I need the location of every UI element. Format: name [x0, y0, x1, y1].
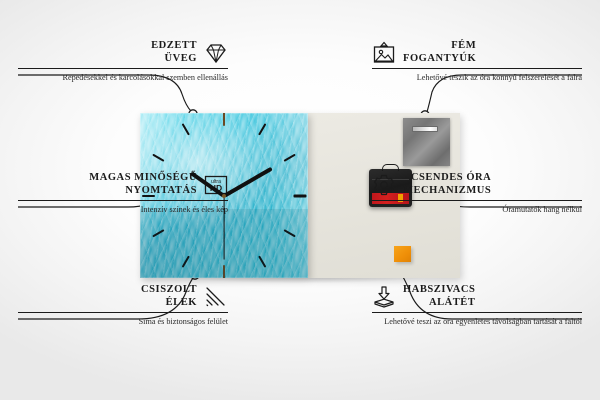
callout-title: FÉM FOGANTYÚK	[403, 40, 476, 65]
gear-icon	[372, 173, 396, 197]
callout-header: CSISZOLT ÉLEK	[18, 284, 228, 309]
callout-title: EDZETT ÜVEG	[151, 40, 197, 65]
clock-hour-marker	[152, 153, 164, 161]
foam-pad-part	[394, 246, 411, 262]
callout-title-line1: CSISZOLT	[141, 284, 197, 297]
callout-description: Lehetővé teszi az óra egyenletes távolsá…	[372, 317, 582, 327]
callout-divider	[372, 68, 582, 69]
diamond-icon	[204, 41, 228, 65]
clock-hour-marker	[284, 153, 296, 161]
callout-title-line1: FÉM	[403, 40, 476, 53]
clock-hour-marker	[223, 265, 225, 278]
callout-header: HABSZIVACS ALÁTÉT	[372, 284, 582, 309]
callout-polished-edges[interactable]: CSISZOLT ÉLEK Sima és biztonságos felüle…	[18, 284, 228, 327]
clock-hour-marker	[258, 124, 266, 136]
callout-title: HABSZIVACS ALÁTÉT	[403, 284, 475, 309]
clock-hour-marker	[284, 229, 296, 237]
callout-title: CSISZOLT ÉLEK	[141, 284, 197, 309]
metal-hanger-plate	[403, 118, 450, 166]
callout-title-line1: HABSZIVACS	[403, 284, 475, 297]
callout-divider	[18, 200, 228, 201]
callout-title-line2: ÉLEK	[141, 297, 197, 310]
clock-hour-marker	[152, 229, 164, 237]
picture-frame-icon	[372, 41, 396, 65]
callout-description: Lehetővé teszik az óra könnyű felszerelé…	[372, 73, 582, 83]
callout-header: CSENDES ÓRA MECHANIZMUS	[372, 172, 582, 197]
callout-title-line1: MAGAS MINŐSÉGŰ	[89, 172, 197, 185]
callout-description: Óramutatók hang nélkül	[372, 205, 582, 215]
clock-minute-hand	[223, 166, 273, 197]
callout-title-line1: CSENDES ÓRA	[403, 172, 491, 185]
callout-title-line2: ALÁTÉT	[403, 297, 475, 310]
callout-header: FÉM FOGANTYÚK	[372, 40, 582, 65]
hanger-slot	[412, 126, 438, 132]
callout-foam-pad[interactable]: HABSZIVACS ALÁTÉT Lehetővé teszi az óra …	[372, 284, 582, 327]
clock-hour-marker	[182, 124, 190, 136]
clock-second-hand	[223, 195, 224, 259]
infographic-canvas: EDZETT ÜVEG Repedésekkel és karcolásokka…	[0, 0, 600, 400]
mechanism-handle	[382, 164, 399, 171]
callout-description: Repedésekkel és karcolásokkal szemben el…	[18, 73, 228, 83]
clock-hour-marker	[223, 113, 225, 126]
callout-divider	[372, 312, 582, 313]
callout-title-line2: ÜVEG	[151, 53, 197, 66]
callout-metal-handles[interactable]: FÉM FOGANTYÚK Lehetővé teszik az óra kön…	[372, 40, 582, 83]
clock-center-pin	[222, 194, 226, 198]
callout-title-line2: MECHANIZMUS	[403, 185, 491, 198]
callout-divider	[18, 312, 228, 313]
clock-hour-marker	[294, 194, 307, 197]
callout-header: EDZETT ÜVEG	[18, 40, 228, 65]
foam-pad-icon	[372, 285, 396, 309]
callout-tempered-glass[interactable]: EDZETT ÜVEG Repedésekkel és karcolásokka…	[18, 40, 228, 83]
callout-silent-mechanism[interactable]: CSENDES ÓRA MECHANIZMUS Óramutatók hang …	[372, 172, 582, 215]
callout-description: Sima és biztonságos felület	[18, 317, 228, 327]
callout-title-line2: FOGANTYÚK	[403, 53, 476, 66]
polished-edges-icon	[204, 285, 228, 309]
callout-title-line2: NYOMTATÁS	[89, 185, 197, 198]
callout-title: CSENDES ÓRA MECHANIZMUS	[403, 172, 491, 197]
clock-hour-marker	[182, 255, 190, 267]
clock-hour-marker	[258, 255, 266, 267]
callout-title-line1: EDZETT	[151, 40, 197, 53]
callout-title: MAGAS MINŐSÉGŰ NYOMTATÁS	[89, 172, 197, 197]
callout-description: Intenzív színek és éles kép	[18, 205, 228, 215]
callout-divider	[18, 68, 228, 69]
callout-divider	[372, 200, 582, 201]
